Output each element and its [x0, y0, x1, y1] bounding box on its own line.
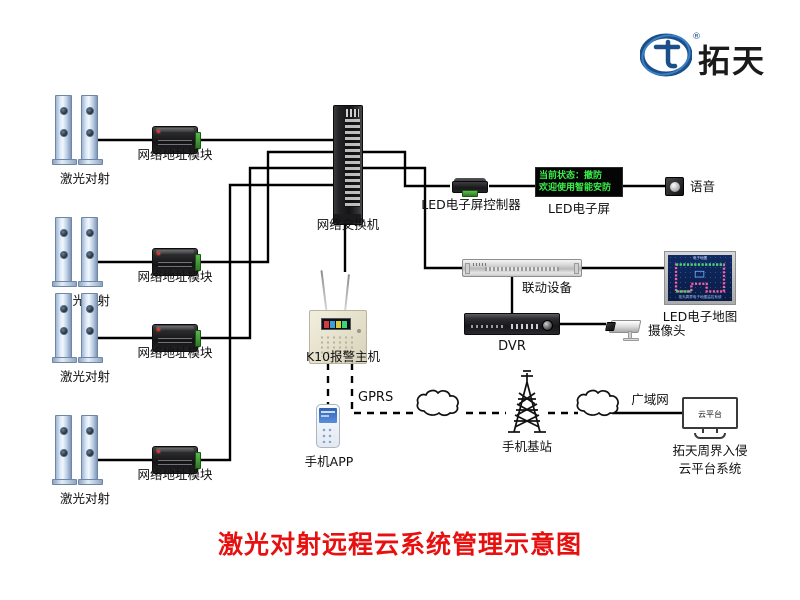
status-led-icon — [157, 328, 160, 331]
linkage-device-label: 联动设备 — [492, 281, 602, 296]
status-led-icon — [157, 130, 160, 133]
brand-wordmark: 拓天 — [698, 36, 766, 82]
laser-post — [81, 217, 98, 283]
network-address-module-label: 网络地址模块 — [110, 270, 240, 285]
network-address-module-label: 网络地址模块 — [110, 468, 240, 483]
mobile-phone-device[interactable] — [316, 404, 340, 448]
wan-link-label: 广域网 — [622, 393, 678, 408]
laser-post — [55, 415, 72, 481]
jog-dial-icon — [542, 320, 553, 331]
diagram-canvas: ® 拓天 激光对射 网络地址模块 激光对射 网络地址模块 激光对射 网络地址模块… — [0, 0, 800, 600]
laser-post — [55, 217, 72, 283]
dvr-device[interactable] — [464, 313, 560, 335]
led-electronic-map[interactable]: 电子地图 拓天周界电子地图监控系统 — [664, 251, 736, 305]
alarm-host-lcd — [321, 318, 351, 330]
led-screen-line-1: 当前状态：撤防 — [539, 170, 619, 182]
voice-label: 语音 — [690, 180, 750, 195]
laser-post — [55, 95, 72, 161]
antenna-icon — [344, 274, 350, 312]
laser-detector-pair[interactable] — [55, 217, 115, 289]
network-address-module-label: 网络地址模块 — [110, 346, 240, 361]
led-screen-label: LED电子屏 — [534, 202, 624, 217]
map-caption: 拓天周界电子地图监控系统 — [668, 295, 732, 300]
diagram-title: 激光对射远程云系统管理示意图 — [0, 525, 800, 561]
status-led-icon — [157, 450, 160, 453]
laser-detector-pair[interactable] — [55, 95, 115, 167]
status-led-icon — [157, 252, 160, 255]
tuotian-logo-icon — [640, 32, 692, 78]
cloud-platform-screen-text: 云平台 — [684, 409, 736, 420]
alarm-host-label: K10报警主机 — [288, 350, 398, 365]
brand-logo: ® 拓天 — [640, 30, 790, 85]
led-controller-label: LED电子屏控制器 — [410, 198, 532, 213]
laser-detector-pair[interactable] — [55, 415, 115, 487]
base-station-label: 手机基站 — [482, 440, 572, 455]
camera-label: 摄像头 — [648, 324, 728, 339]
cloud-platform-monitor[interactable]: 云平台 — [682, 397, 738, 441]
map-title: 电子地图 — [668, 256, 732, 261]
voice-speaker-icon[interactable] — [665, 177, 684, 196]
network-address-module-label: 网络地址模块 — [110, 148, 240, 163]
laser-detector-label: 激光对射 — [30, 172, 140, 187]
laser-post — [81, 415, 98, 481]
laser-detector-pair[interactable] — [55, 293, 115, 365]
led-display-screen[interactable]: 当前状态：撤防 欢迎使用智能安防 — [535, 167, 623, 197]
led-screen-line-2: 欢迎使用智能安防 — [539, 182, 619, 194]
laser-post — [81, 293, 98, 359]
terminal-block — [462, 190, 478, 197]
mobile-app-label: 手机APP — [290, 455, 368, 470]
cloud-platform-label-line2: 云平台系统 — [655, 461, 765, 477]
cloud-platform-label-line1: 拓天周界入侵 — [655, 443, 765, 459]
camera-device[interactable] — [604, 318, 646, 342]
network-switch-label: 网络交换机 — [293, 218, 403, 233]
network-switch[interactable] — [333, 105, 363, 225]
laser-post — [55, 293, 72, 359]
led-screen-controller[interactable] — [452, 178, 488, 195]
laser-post — [81, 95, 98, 161]
cloud-icon-1 — [417, 391, 458, 416]
antenna-icon — [320, 270, 327, 312]
gprs-link-label: GPRS — [358, 390, 408, 405]
laser-detector-label: 激光对射 — [30, 492, 140, 507]
base-station-tower — [508, 371, 546, 432]
laser-detector-label: 激光对射 — [30, 370, 140, 385]
linkage-device[interactable] — [462, 259, 582, 277]
dvr-label: DVR — [472, 339, 552, 354]
cloud-icon-2 — [577, 391, 618, 416]
alarm-host-k10[interactable] — [309, 270, 367, 348]
